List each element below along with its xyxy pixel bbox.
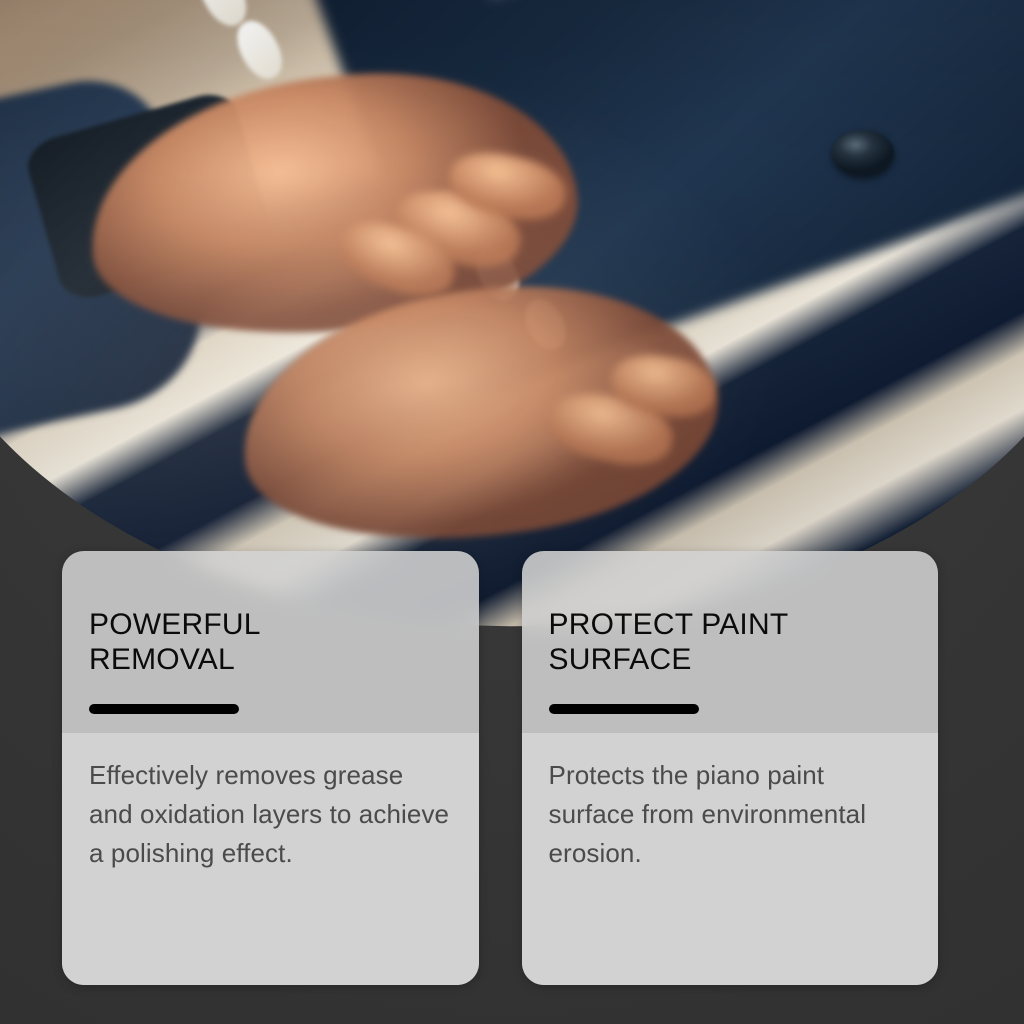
poster-canvas: POWERFUL REMOVAL Effectively removes gre… xyxy=(0,0,1024,1024)
card-title: POWERFUL REMOVAL xyxy=(89,607,451,677)
card-title: PROTECT PAINT SURFACE xyxy=(549,607,911,677)
feature-cards-row: POWERFUL REMOVAL Effectively removes gre… xyxy=(62,551,938,985)
card-body-text: Protects the piano paint surface from en… xyxy=(549,756,911,873)
title-divider-rule xyxy=(89,704,239,714)
feature-card-protect-paint-surface[interactable]: PROTECT PAINT SURFACE Protects the piano… xyxy=(522,551,939,985)
title-divider-rule xyxy=(549,704,699,714)
card-body-text: Effectively removes grease and oxidation… xyxy=(89,756,451,873)
feature-card-powerful-removal[interactable]: POWERFUL REMOVAL Effectively removes gre… xyxy=(62,551,479,985)
